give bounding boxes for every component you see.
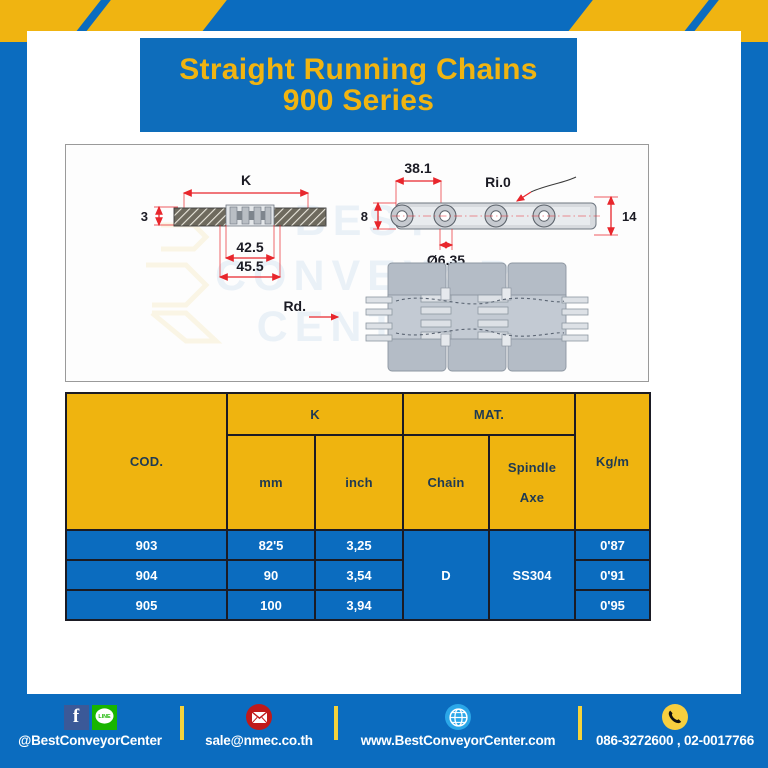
- svg-text:Rd.: Rd.: [283, 298, 306, 314]
- cell-cod: 903: [66, 530, 227, 560]
- svg-text:LINE: LINE: [98, 714, 111, 720]
- table-row: 903 82'5 3,25 D SS304 0'87: [66, 530, 650, 560]
- phone-icon[interactable]: [662, 704, 688, 730]
- cell-mm: 82'5: [227, 530, 315, 560]
- cell-spindle-material: SS304: [489, 530, 575, 620]
- footer-icons: [246, 704, 272, 730]
- technical-drawing-panel: BEST CONVEYOR CENTER K: [65, 144, 649, 382]
- title-line-2: 900 Series: [283, 85, 434, 116]
- cell-mm: 90: [227, 560, 315, 590]
- svg-text:45.5: 45.5: [236, 258, 263, 274]
- product-spec-sheet: Straight Running Chains 900 Series BEST: [0, 0, 768, 768]
- cell-inch: 3,94: [315, 590, 403, 620]
- globe-icon[interactable]: [445, 704, 471, 730]
- handset-shape: [667, 709, 683, 725]
- technical-drawing-svg: BEST CONVEYOR CENTER K: [66, 145, 648, 381]
- header-axe: Axe: [520, 490, 544, 505]
- header-kgm: Kg/m: [575, 393, 650, 530]
- cell-cod: 905: [66, 590, 227, 620]
- cell-kgm: 0'87: [575, 530, 650, 560]
- header-k: K: [227, 393, 403, 435]
- footer-item-facebook[interactable]: f LINE @BestConveyorCenter: [0, 700, 180, 768]
- cell-inch: 3,54: [315, 560, 403, 590]
- header-cod: COD.: [66, 393, 227, 530]
- header-spindle: Spindle: [508, 460, 556, 475]
- svg-text:8: 8: [361, 209, 368, 224]
- facebook-icon[interactable]: f: [64, 705, 89, 730]
- cell-chain-material: D: [403, 530, 489, 620]
- footer-item-website[interactable]: www.BestConveyorCenter.com: [338, 700, 578, 768]
- cell-mm: 100: [227, 590, 315, 620]
- specification-table: COD. K MAT. Kg/m mm inch Chain Spindle A…: [65, 392, 651, 621]
- cell-kgm: 0'95: [575, 590, 650, 620]
- header-mat: MAT.: [403, 393, 575, 435]
- footer-item-phone[interactable]: 086-3272600 , 02-0017766: [582, 700, 768, 768]
- svg-text:42.5: 42.5: [236, 239, 263, 255]
- envelope-shape: [251, 711, 268, 724]
- email-icon[interactable]: [246, 704, 272, 730]
- header-inch: inch: [315, 435, 403, 530]
- header-mm: mm: [227, 435, 315, 530]
- header-chain: Chain: [403, 435, 489, 530]
- svg-text:3: 3: [141, 209, 148, 224]
- title-banner: Straight Running Chains 900 Series: [140, 38, 577, 132]
- footer-icons: [662, 704, 688, 730]
- globe-shape: [449, 708, 468, 727]
- footer-icons: f LINE: [64, 704, 117, 730]
- footer-contact-bar: f LINE @BestConveyorCenter: [0, 700, 768, 768]
- footer-label-email: sale@nmec.co.th: [205, 733, 313, 748]
- footer-label-facebook: @BestConveyorCenter: [18, 733, 162, 748]
- header-spindle-axe: Spindle Axe: [489, 435, 575, 530]
- cell-cod: 904: [66, 560, 227, 590]
- footer-label-website: www.BestConveyorCenter.com: [361, 733, 556, 748]
- table-header-row-1: COD. K MAT. Kg/m: [66, 393, 650, 435]
- cell-kgm: 0'91: [575, 560, 650, 590]
- svg-text:K: K: [241, 172, 251, 188]
- svg-text:38.1: 38.1: [404, 160, 431, 176]
- title-line-1: Straight Running Chains: [179, 54, 538, 85]
- footer-icons: [445, 704, 471, 730]
- line-bubble-shape: LINE: [94, 707, 115, 728]
- line-icon[interactable]: LINE: [92, 705, 117, 730]
- footer-label-phone: 086-3272600 , 02-0017766: [596, 733, 754, 748]
- cell-inch: 3,25: [315, 530, 403, 560]
- svg-text:14: 14: [622, 209, 637, 224]
- footer-item-email[interactable]: sale@nmec.co.th: [184, 700, 334, 768]
- svg-text:Ri.0: Ri.0: [485, 174, 511, 190]
